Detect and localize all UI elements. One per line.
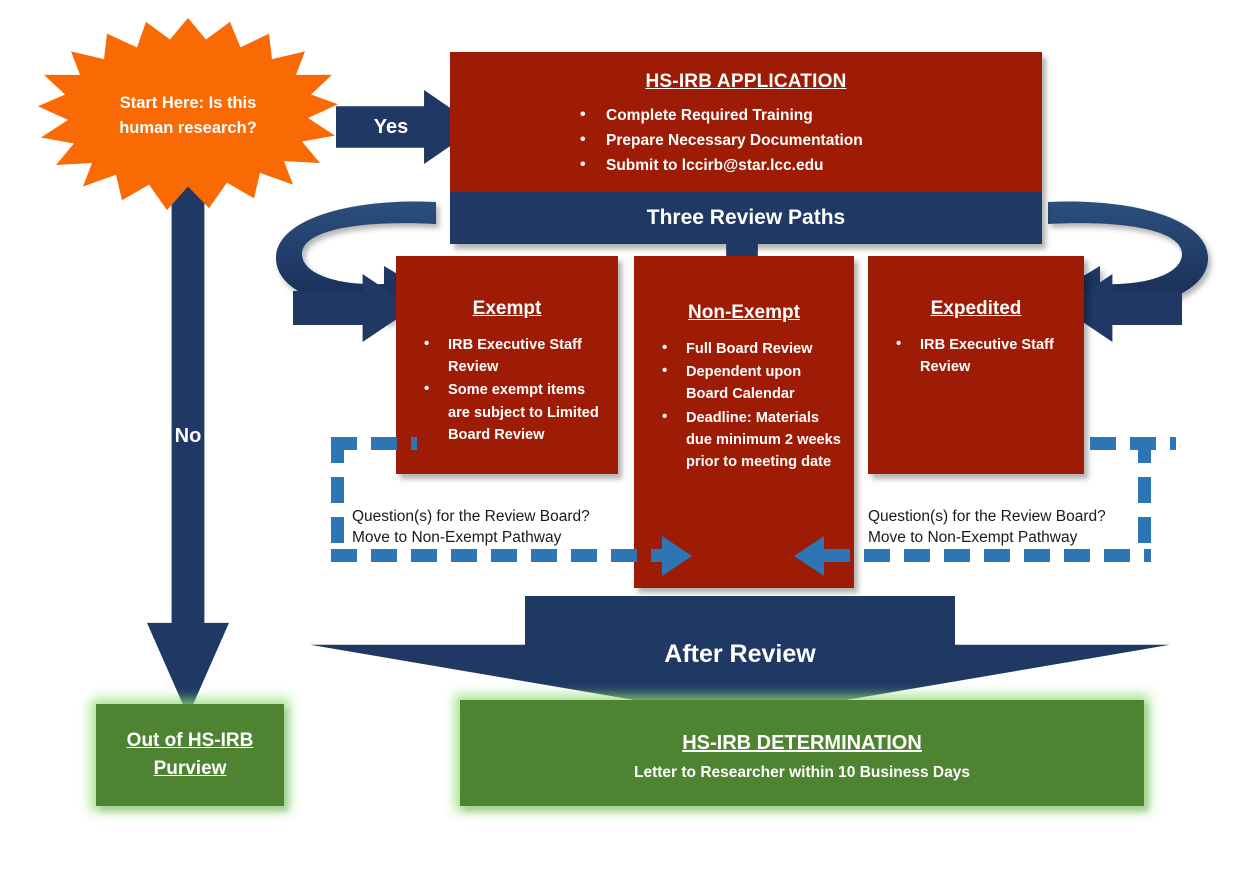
non-exempt-item: Dependent upon Board Calendar	[662, 361, 844, 405]
out-of-purview-text: Out of HS-IRB Purview	[127, 727, 254, 784]
non-exempt-title: Non-Exempt	[634, 256, 854, 324]
application-item: Submit to lccirb@star.lcc.edu	[580, 153, 1042, 178]
after-review-label: After Review	[310, 640, 1170, 669]
exempt-title: Exempt	[396, 256, 618, 320]
right-pathway-arrowhead	[794, 536, 824, 576]
application-item: Prepare Necessary Documentation	[580, 128, 1042, 153]
right-pathway-dash-top	[1090, 437, 1176, 450]
expedited-title: Expedited	[868, 256, 1084, 320]
application-title: HS-IRB APPLICATION	[450, 52, 1042, 93]
start-here-starburst[interactable]: Start Here: Is this human research?	[38, 18, 338, 214]
right-pathway-note: Question(s) for the Review Board? Move t…	[868, 506, 1158, 549]
hs-irb-application-box[interactable]: HS-IRB APPLICATION Complete Required Tra…	[450, 52, 1042, 192]
flowchart-canvas: No Start Here: Is this human research? Y…	[0, 0, 1250, 876]
exempt-item: IRB Executive Staff Review	[424, 334, 608, 378]
left-pathway-arrowhead	[662, 536, 692, 576]
non-exempt-item-list: Full Board Review Dependent upon Board C…	[634, 338, 854, 473]
non-exempt-item: Full Board Review	[662, 338, 844, 360]
exempt-path-box[interactable]: Exempt IRB Executive Staff Review Some e…	[396, 256, 618, 474]
three-review-paths-banner: Three Review Paths	[450, 192, 1042, 244]
determination-title: HS-IRB DETERMINATION	[460, 700, 1144, 755]
non-exempt-item: Deadline: Materials due minimum 2 weeks …	[662, 407, 844, 474]
three-review-paths-label: Three Review Paths	[647, 206, 845, 230]
expedited-item-list: IRB Executive Staff Review	[868, 334, 1084, 378]
out-of-purview-box[interactable]: Out of HS-IRB Purview	[96, 704, 284, 806]
right-pathway-dash-bottom	[824, 549, 1151, 562]
expedited-item: IRB Executive Staff Review	[896, 334, 1074, 378]
exempt-item-list: IRB Executive Staff Review Some exempt i…	[396, 334, 618, 446]
application-item-list: Complete Required Training Prepare Neces…	[450, 103, 1042, 178]
no-branch-label: No	[147, 425, 229, 448]
exempt-item: Some exempt items are subject to Limited…	[424, 379, 608, 446]
expedited-path-box[interactable]: Expedited IRB Executive Staff Review	[868, 256, 1084, 474]
application-item: Complete Required Training	[580, 103, 1042, 128]
left-pathway-dash-vertical	[331, 437, 344, 555]
left-pathway-dash-bottom	[331, 549, 667, 562]
hs-irb-determination-box[interactable]: HS-IRB DETERMINATION Letter to Researche…	[460, 700, 1144, 806]
left-pathway-note: Question(s) for the Review Board? Move t…	[352, 506, 642, 549]
start-here-text: Start Here: Is this human research?	[108, 91, 268, 141]
yes-branch-label: Yes	[336, 110, 446, 144]
determination-subtitle: Letter to Researcher within 10 Business …	[460, 755, 1144, 782]
